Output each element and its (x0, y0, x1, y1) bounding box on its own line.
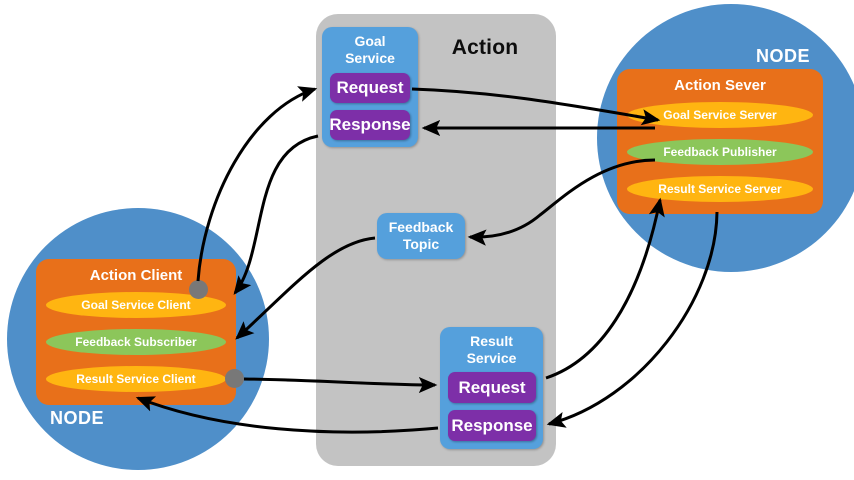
action-client-box[interactable]: Action Client Goal Service Client Feedba… (36, 259, 236, 405)
goal-service-title-line1: Goal (354, 33, 385, 49)
result-service-title: Result Service (440, 333, 543, 367)
result-service-server-pill[interactable]: Result Service Server (627, 176, 813, 202)
result-service-box[interactable]: Result Service Request Response (440, 327, 543, 449)
goal-service-box[interactable]: Goal Service Request Response (322, 27, 418, 147)
action-container-title: Action (420, 36, 550, 60)
goal-service-client-connector-dot (189, 280, 208, 299)
action-client-title: Action Client (36, 267, 236, 284)
diagram-canvas: Action Goal Service Request Response Fee… (0, 0, 854, 480)
feedback-publisher-pill[interactable]: Feedback Publisher (627, 139, 813, 165)
feedback-topic-box[interactable]: Feedback Topic (377, 213, 465, 259)
result-service-request[interactable]: Request (448, 372, 536, 403)
feedback-topic-title: Feedback Topic (389, 219, 454, 253)
result-service-title-line2: Service (467, 350, 517, 366)
action-server-box[interactable]: Action Sever Goal Service Server Feedbac… (617, 69, 823, 214)
result-service-response[interactable]: Response (448, 410, 536, 441)
result-service-title-line1: Result (470, 333, 513, 349)
goal-service-response[interactable]: Response (330, 110, 410, 140)
goal-service-server-pill[interactable]: Goal Service Server (627, 102, 813, 128)
action-server-title: Action Sever (617, 77, 823, 94)
server-node-label: NODE (756, 46, 810, 67)
result-service-client-connector-dot (225, 369, 244, 388)
client-node-label: NODE (50, 408, 104, 429)
goal-service-request[interactable]: Request (330, 73, 410, 103)
feedback-topic-title-line2: Topic (403, 236, 439, 252)
goal-service-title-line2: Service (345, 50, 395, 66)
result-service-client-pill[interactable]: Result Service Client (46, 366, 226, 392)
feedback-subscriber-pill[interactable]: Feedback Subscriber (46, 329, 226, 355)
goal-service-title: Goal Service (322, 33, 418, 67)
feedback-topic-title-line1: Feedback (389, 219, 454, 235)
